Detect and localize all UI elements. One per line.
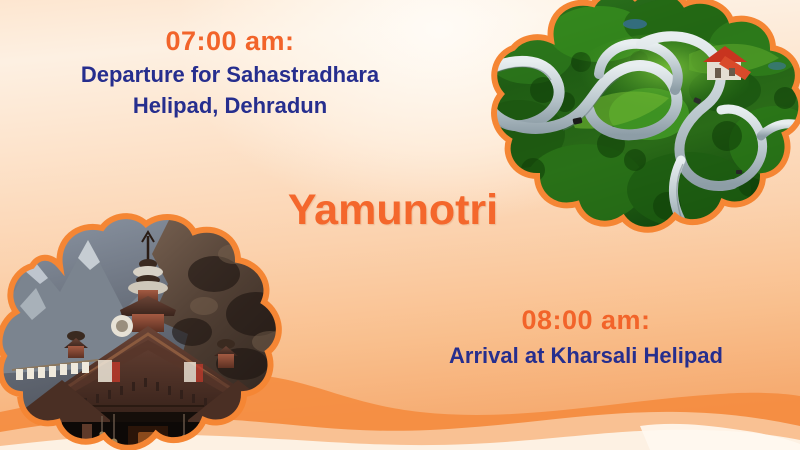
arrival-detail-line-1: Arrival at Kharsali Helipad xyxy=(380,342,792,370)
road-photo-content xyxy=(473,0,800,239)
temple-photo-content xyxy=(0,214,298,450)
departure-info-block: 07:00 am: Departure for Sahastradhara He… xyxy=(20,24,440,120)
page-title: Yamunotri xyxy=(258,186,528,235)
wave-highlight xyxy=(640,424,800,450)
arrival-time: 08:00 am: xyxy=(380,303,792,337)
departure-time: 07:00 am: xyxy=(20,24,440,58)
departure-detail-line-1: Departure for Sahastradhara xyxy=(20,61,440,89)
arrival-info-block: 08:00 am: Arrival at Kharsali Helipad xyxy=(380,303,792,370)
departure-detail-line-2: Helipad, Dehradun xyxy=(20,92,440,120)
yamunotri-itinerary-slide: 07:00 am: Departure for Sahastradhara He… xyxy=(0,0,800,450)
photo-yamunotri-temple xyxy=(2,214,294,450)
photo-winding-mountain-road xyxy=(489,0,800,239)
